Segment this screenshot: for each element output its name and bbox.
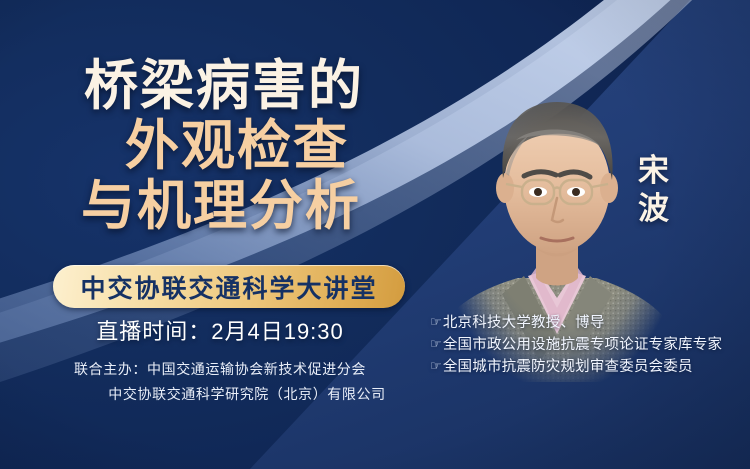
pointing-hand-icon: ☞ xyxy=(430,312,442,332)
title-line-2: 外观检查 xyxy=(34,118,440,174)
live-time: 直播时间：2月4日19:30 xyxy=(0,314,440,346)
organizers: 联合主办：中国交通运输协会新技术促进分会 中交协联交通科学研究院（北京）有限公司 xyxy=(0,357,440,406)
credential-text: 北京科技大学教授、博导 xyxy=(443,312,605,334)
organizer-line-2: 中交协联交通科学研究院（北京）有限公司 xyxy=(0,382,440,407)
title-line-3: 与机理分析 xyxy=(2,178,440,234)
title-line-1: 桥梁病害的 xyxy=(8,58,440,114)
credential-text: 全国市政公用设施抗震专项论证专家库专家 xyxy=(443,334,722,356)
series-badge: 中交协联交通科学大讲堂 xyxy=(53,265,405,308)
speaker-credentials: ☞ 北京科技大学教授、博导 ☞ 全国市政公用设施抗震专项论证专家库专家 ☞ 全国… xyxy=(430,312,746,378)
series-badge-label: 中交协联交通科学大讲堂 xyxy=(80,269,377,305)
poster-title: 桥梁病害的 外观检查 与机理分析 xyxy=(0,58,440,234)
organizer-line-1: 联合主办：中国交通运输协会新技术促进分会 xyxy=(0,357,440,382)
pointing-hand-icon: ☞ xyxy=(430,356,442,376)
credential-row: ☞ 全国城市抗震防灾规划审查委员会委员 xyxy=(430,356,746,378)
credential-row: ☞ 北京科技大学教授、博导 xyxy=(430,312,746,334)
webinar-poster: 桥梁病害的 外观检查 与机理分析 中交协联交通科学大讲堂 直播时间：2月4日19… xyxy=(0,0,750,469)
speaker-name: 宋 波 xyxy=(631,152,677,228)
pointing-hand-icon: ☞ xyxy=(430,334,442,354)
speaker-name-char-2: 波 xyxy=(631,190,677,228)
speaker-name-char-1: 宋 xyxy=(631,152,677,190)
credential-text: 全国城市抗震防灾规划审查委员会委员 xyxy=(443,356,693,378)
credential-row: ☞ 全国市政公用设施抗震专项论证专家库专家 xyxy=(430,334,746,356)
